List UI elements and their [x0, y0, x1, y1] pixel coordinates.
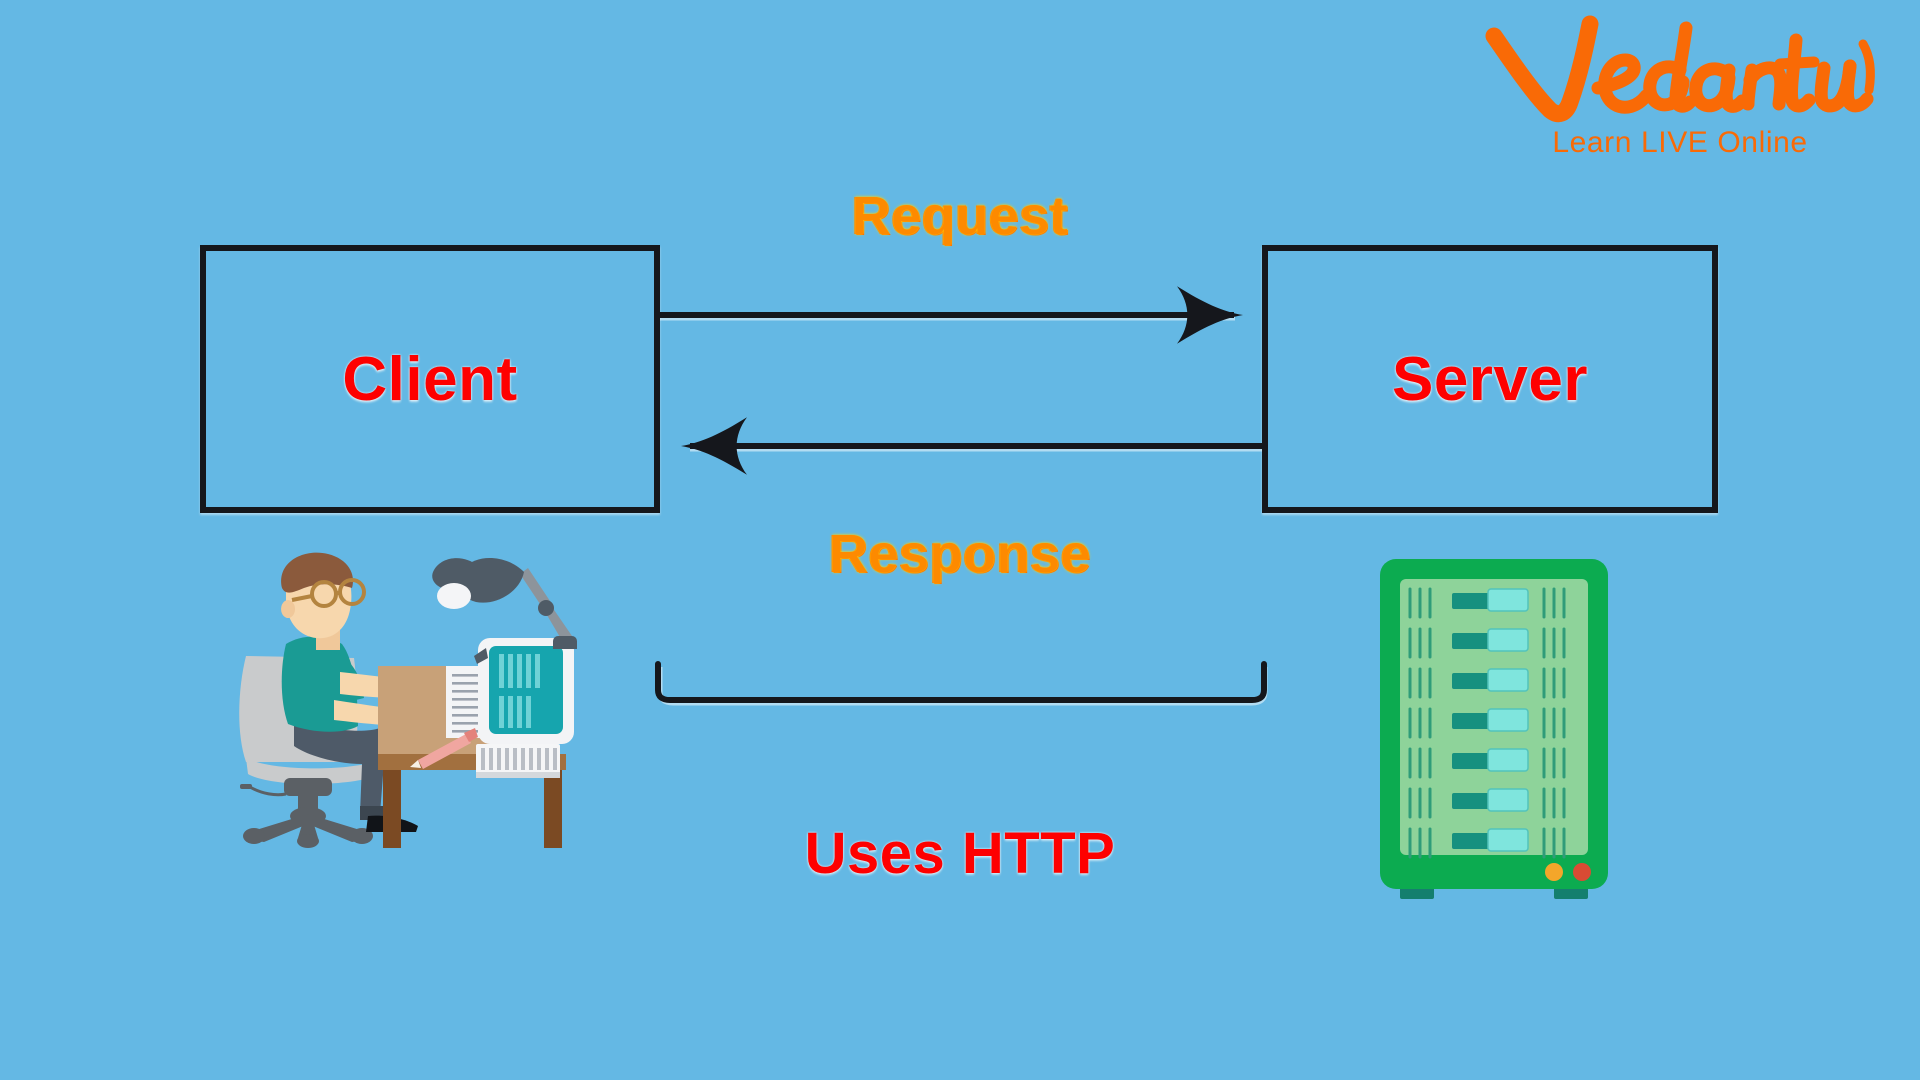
vedantu-logo: Learn LIVE Online: [1480, 14, 1880, 160]
person-at-desk-illustration: [228, 548, 578, 848]
diagram-canvas: Learn LIVE Online Client Server: [0, 0, 1920, 1080]
desk-icon: [378, 558, 577, 848]
server-node-box: Server: [1262, 245, 1718, 513]
desk-lamp-icon: [432, 558, 577, 649]
server-rack-illustration: [1378, 555, 1610, 915]
monitor-icon: [474, 638, 574, 744]
vedantu-tagline: Learn LIVE Online: [1480, 126, 1880, 160]
status-led-amber: [1545, 863, 1563, 881]
protocol-brace: [658, 664, 1264, 700]
status-led-red: [1573, 863, 1591, 881]
vedantu-wordmark-icon: [1480, 14, 1880, 132]
client-node-label: Client: [342, 344, 517, 415]
server-node-label: Server: [1392, 344, 1588, 415]
request-label: Request: [0, 185, 1920, 247]
keyboard-icon: [476, 744, 560, 778]
client-node-box: Client: [200, 245, 660, 513]
